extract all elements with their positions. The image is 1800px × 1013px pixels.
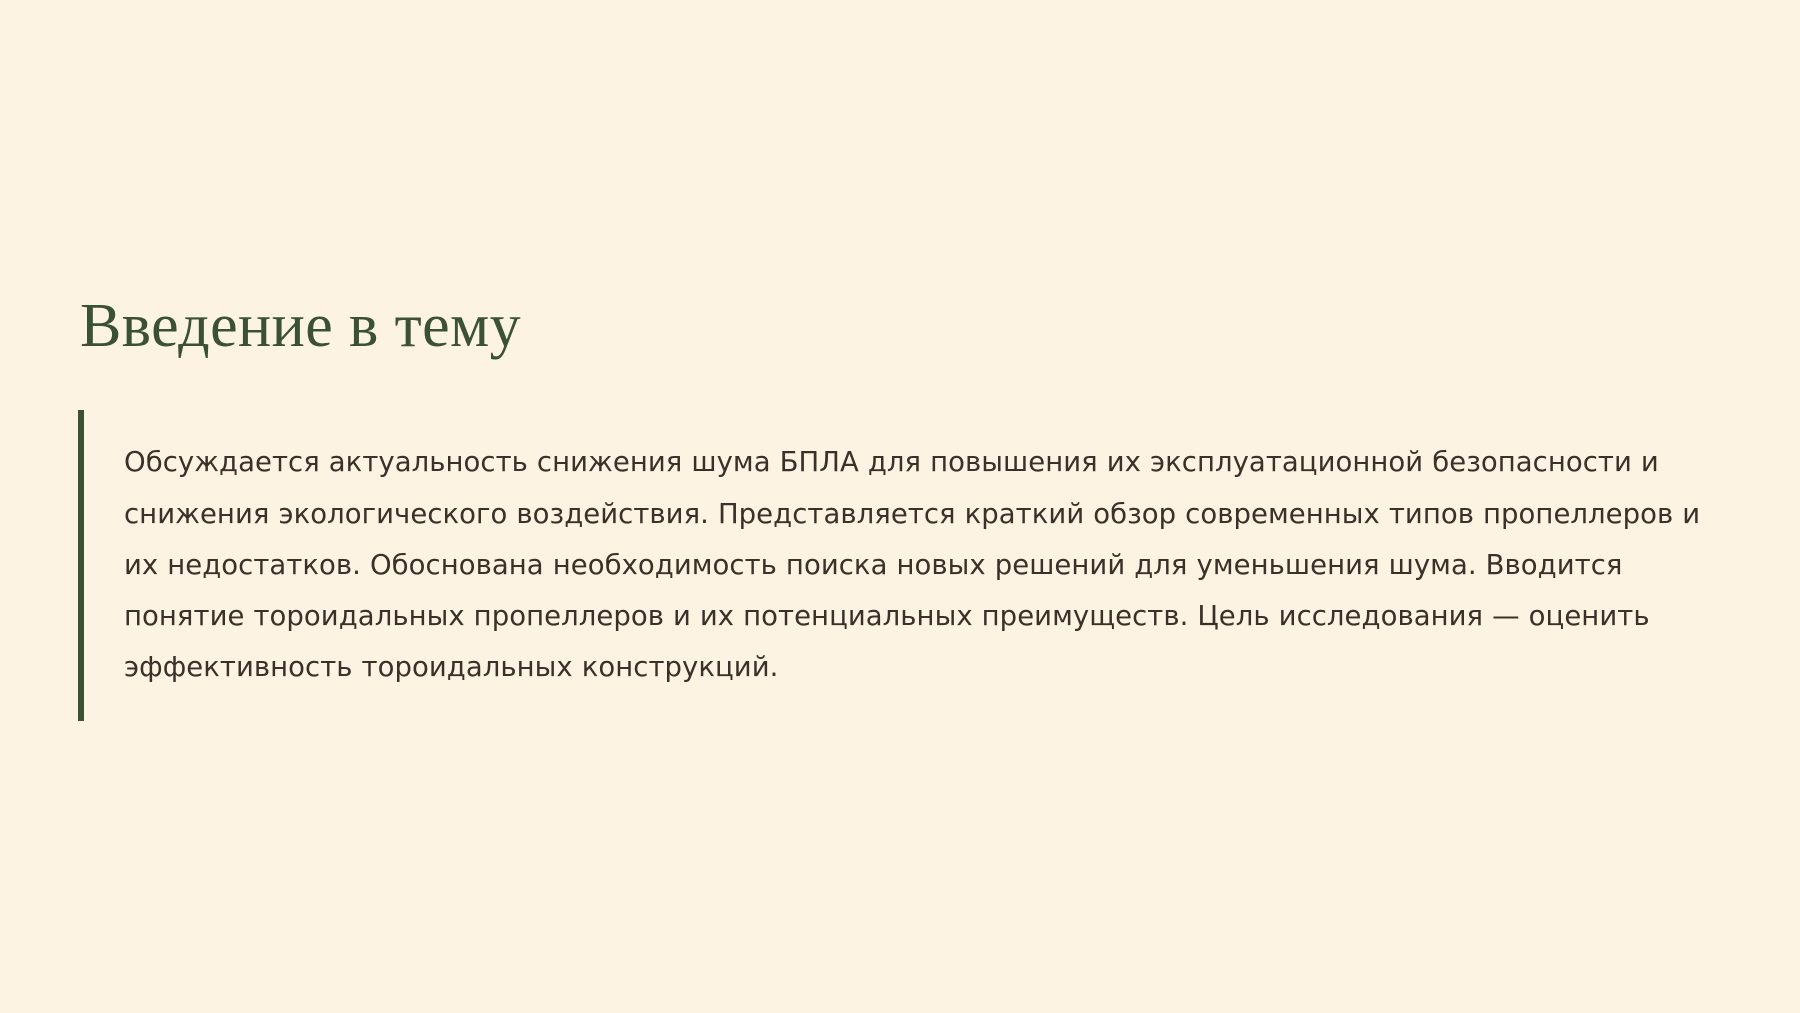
body-paragraph: Обсуждается актуальность снижения шума Б… — [84, 437, 1723, 693]
presentation-slide: Введение в тему Обсуждается актуальность… — [0, 0, 1800, 1013]
slide-content-area: Введение в тему Обсуждается актуальность… — [78, 0, 1723, 1013]
page-title: Введение в тему — [80, 292, 521, 361]
quote-block: Обсуждается актуальность снижения шума Б… — [78, 410, 1723, 721]
